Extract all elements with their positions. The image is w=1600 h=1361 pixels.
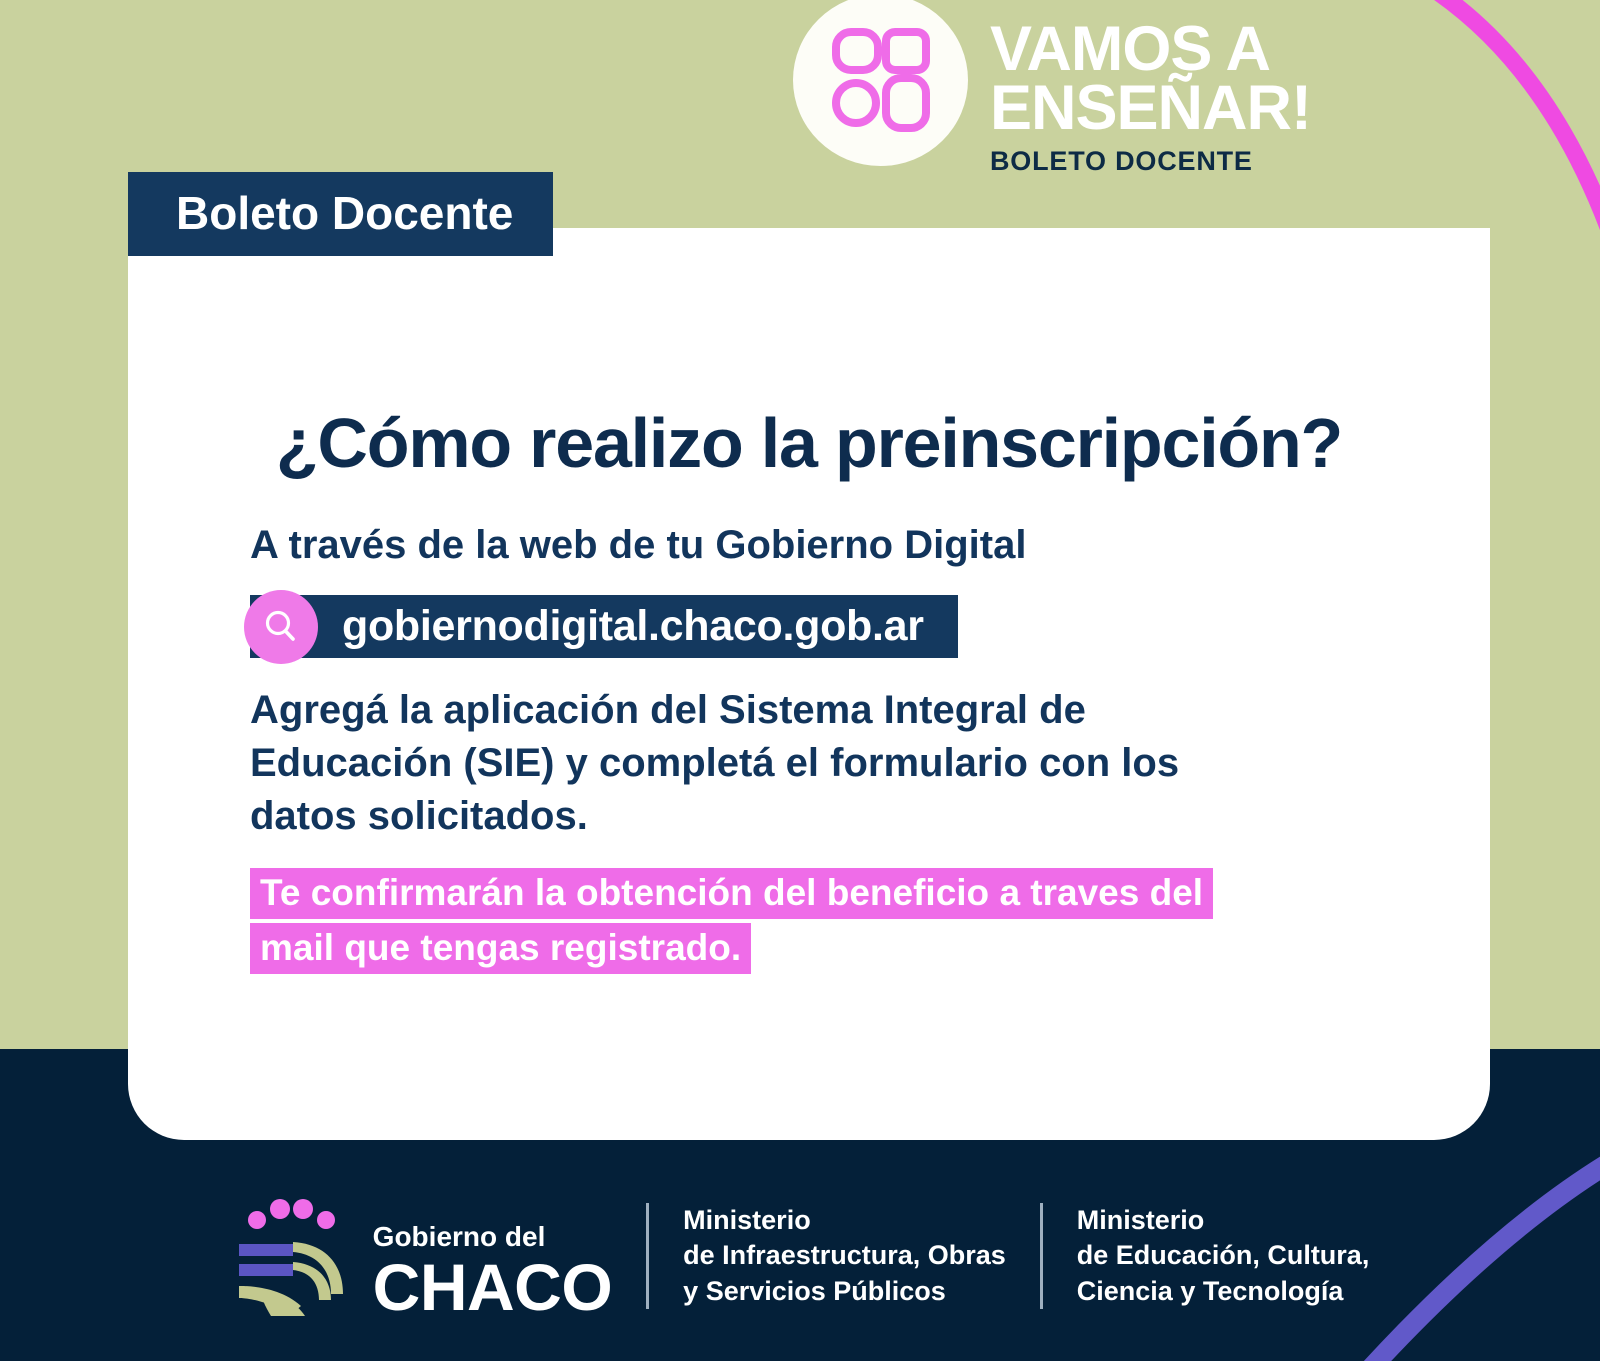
url-text: gobiernodigital.chaco.gob.ar: [342, 602, 924, 651]
brand-line-2: ENSEÑAR!: [990, 79, 1311, 138]
poster-canvas: VAMOS A ENSEÑAR! BOLETO DOCENTE Boleto D…: [0, 0, 1600, 1361]
brand-line-1: VAMOS A: [990, 20, 1311, 79]
brand-badge: [793, 0, 968, 166]
ministry-educacion: Ministerio de Educación, Cultura, Cienci…: [1040, 1203, 1370, 1308]
highlight-note: Te confirmarán la obtención del benefici…: [250, 866, 1260, 976]
brand-lockup: VAMOS A ENSEÑAR! BOLETO DOCENTE: [793, 0, 1311, 177]
lead-text: A través de la web de tu Gobierno Digita…: [250, 522, 1370, 568]
brand-subtitle: BOLETO DOCENTE: [990, 146, 1311, 177]
url-bar[interactable]: gobiernodigital.chaco.gob.ar: [250, 595, 958, 658]
search-icon: [244, 590, 318, 664]
boleto-docente-logo-icon: [825, 24, 937, 136]
gobierno-del-label: Gobierno del: [373, 1223, 613, 1251]
brand-words: VAMOS A ENSEÑAR! BOLETO DOCENTE: [990, 0, 1311, 177]
gobierno-chaco-lockup: Gobierno del CHACO: [231, 1194, 613, 1318]
ministry-infraestructura: Ministerio de Infraestructura, Obras y S…: [646, 1203, 1006, 1308]
chaco-label: CHACO: [373, 1257, 613, 1318]
gobierno-chaco-words: Gobierno del CHACO: [373, 1223, 613, 1318]
card-content: ¿Cómo realizo la preinscripción? A travé…: [128, 228, 1490, 976]
highlight-note-text: Te confirmarán la obtención del benefici…: [250, 868, 1213, 974]
page-title: ¿Cómo realizo la preinscripción?: [128, 408, 1490, 478]
footer: Gobierno del CHACO Ministerio de Infraes…: [0, 1194, 1600, 1318]
instructions-paragraph: Agregá la aplicación del Sistema Integra…: [250, 684, 1250, 842]
body-block: A través de la web de tu Gobierno Digita…: [250, 522, 1370, 976]
gobierno-chaco-logo-icon: [231, 1194, 349, 1318]
